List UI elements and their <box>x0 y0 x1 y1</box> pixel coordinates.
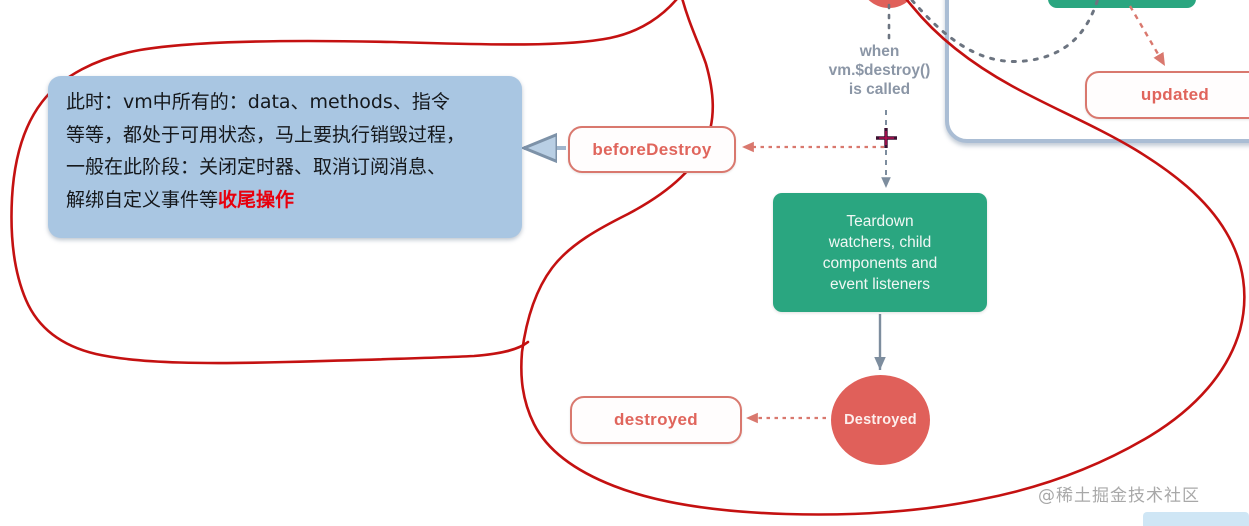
caption-line-3: is called <box>812 80 947 99</box>
hook-beforedestroy[interactable]: beforeDestroy <box>568 126 736 173</box>
tooltip-highlight: 收尾操作 <box>218 189 294 211</box>
teardown-step-box: Teardown watchers, child components and … <box>773 193 987 312</box>
hook-destroyed[interactable]: destroyed <box>570 396 742 444</box>
beforedestroy-explanation-bubble: 此时：vm中所有的：data、methods、指令 等等，都处于可用状态，马上要… <box>48 76 522 238</box>
caption-line-1: when <box>812 42 947 61</box>
tooltip-line-3: 一般在此阶段：关闭定时器、取消订阅消息、 <box>66 151 508 184</box>
bottom-blue-sliver <box>1143 512 1249 526</box>
watermark-text: @稀土掘金技术社区 <box>1038 481 1200 506</box>
crosshair-cursor <box>876 128 897 148</box>
teardown-line-2: watchers, child <box>823 232 938 253</box>
state-destroyed-circle: Destroyed <box>831 375 930 465</box>
tooltip-line-4-text: 解绑自定义事件等 <box>66 189 218 211</box>
caption-line-2: vm.$destroy() <box>812 61 947 80</box>
diagram-canvas: 此时：vm中所有的：data、methods、指令 等等，都处于可用状态，马上要… <box>0 0 1249 521</box>
tooltip-line-1: 此时：vm中所有的：data、methods、指令 <box>66 86 508 119</box>
tooltip-line-2: 等等，都处于可用状态，马上要执行销毁过程， <box>66 119 508 152</box>
teardown-line-1: Teardown <box>823 211 938 232</box>
when-destroy-called-caption: when vm.$destroy() is called <box>812 42 947 99</box>
tooltip-line-4: 解绑自定义事件等收尾操作 <box>66 184 508 217</box>
teardown-line-3: components and <box>823 253 938 274</box>
hook-updated[interactable]: updated <box>1085 71 1249 119</box>
teardown-line-4: event listeners <box>823 274 938 295</box>
